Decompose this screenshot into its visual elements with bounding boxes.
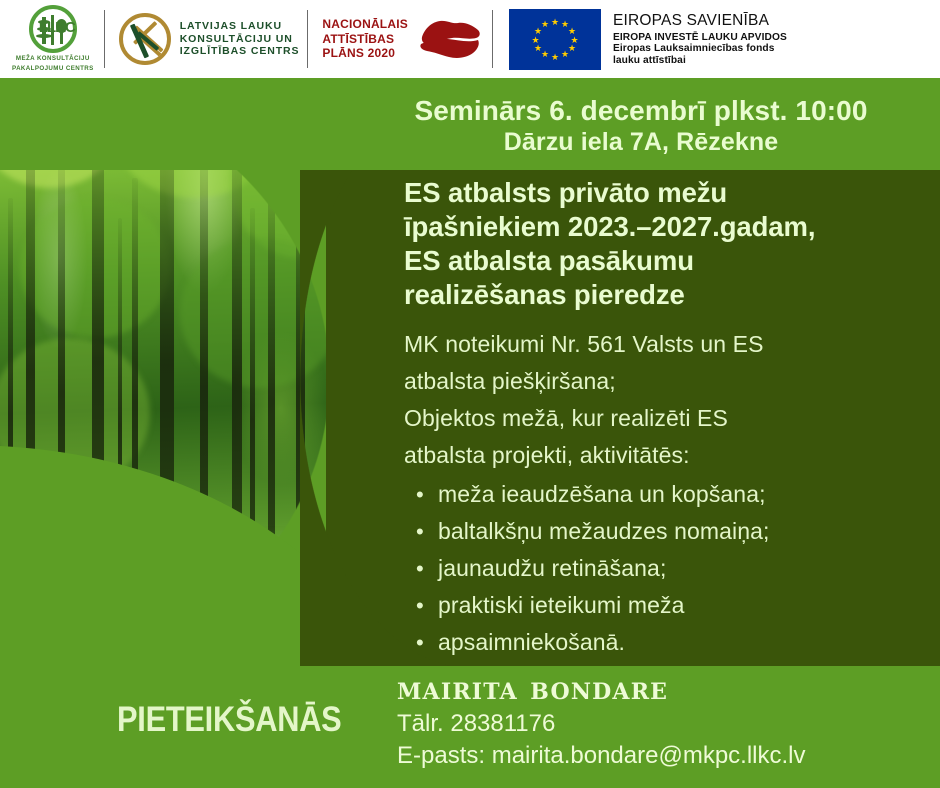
main-content: ES atbalsts privāto mežu īpašniekiem 202… — [404, 176, 940, 661]
contact-person-name: Mairita Bondare — [397, 668, 940, 708]
llkc-circle-icon — [119, 13, 171, 65]
seminar-address: Dārzu iela 7A, Rēzekne — [504, 127, 779, 158]
eu-line2: EIROPA INVESTĒ LAUKU APVIDOS — [613, 32, 787, 43]
seminar-datetime: Seminārs 6. decembrī plkst. 10:00 — [414, 94, 867, 127]
llkc-line2: KONSULTĀCIJU UN — [180, 33, 300, 46]
eu-logo-text: EIROPAS SAVIENĪBA EIROPA INVESTĒ LAUKU A… — [613, 12, 787, 67]
nap-logo-text: NACIONĀLAIS ATTĪSTĪBAS PLĀNS 2020 — [322, 17, 408, 61]
mkpc-logo-letters: LLKC — [39, 19, 75, 36]
list-item: meža ieaudzēšana un kopšana; — [438, 476, 940, 513]
title-line2: īpašniekiem 2023.–2027.gadam, — [404, 210, 940, 244]
nap-line3: PLĀNS 2020 — [322, 46, 408, 61]
seminar-title: ES atbalsts privāto mežu īpašniekiem 202… — [404, 176, 940, 312]
eu-flag-icon: ★ ★ ★ ★ ★ ★ ★ ★ ★ ★ ★ ★ — [509, 9, 601, 70]
llkc-logo-text: LATVIJAS LAUKU KONSULTĀCIJU UN IZGLĪTĪBA… — [180, 20, 300, 58]
nap-line1: NACIONĀLAIS — [322, 17, 408, 32]
poster-root: LLKC MEŽA KONSULTĀCIJU PAKALPOJUMU CENTR… — [0, 0, 940, 788]
list-item: jaunaudžu retināšana; — [438, 550, 940, 587]
list-item: praktiski ieteikumi meža — [438, 587, 940, 624]
seminar-banner-text: Seminārs 6. decembrī plkst. 10:00 Dārzu … — [342, 78, 940, 170]
llkc-logo: LATVIJAS LAUKU KONSULTĀCIJU UN IZGLĪTĪBA… — [105, 0, 308, 78]
eu-line3: Eiropas Lauksaimniecības fonds — [613, 43, 787, 54]
logo-header-strip: LLKC MEŽA KONSULTĀCIJU PAKALPOJUMU CENTR… — [0, 0, 940, 78]
description-line1: MK noteikumi Nr. 561 Valsts un ES — [404, 326, 940, 363]
apply-label: PIETEIKŠANĀS — [117, 700, 341, 740]
mkpc-circle-icon: LLKC — [29, 5, 77, 53]
activity-list: meža ieaudzēšana un kopšana; baltalkšņu … — [404, 476, 940, 661]
eu-line4: lauku attīstībai — [613, 55, 787, 66]
mkpc-caption-line1: MEŽA KONSULTĀCIJU — [16, 55, 90, 63]
llkc-line1: LATVIJAS LAUKU — [180, 20, 300, 33]
description-line2: atbalsta piešķiršana; — [404, 363, 940, 400]
nap-line2: ATTĪSTĪBAS — [322, 32, 408, 47]
title-line4: realizēšanas pieredze — [404, 278, 940, 312]
list-item: baltalkšņu mežaudzes nomaiņa; — [438, 513, 940, 550]
mkpc-caption-line2: PAKALPOJUMU CENTRS — [12, 65, 94, 73]
description-line4: atbalsta projekti, aktivitātēs: — [404, 437, 940, 474]
contact-block: Mairita Bondare Tālr. 28381176 E-pasts: … — [397, 668, 940, 772]
contact-email: E-pasts: mairita.bondare@mkpc.llkc.lv — [397, 740, 940, 772]
eu-logo: ★ ★ ★ ★ ★ ★ ★ ★ ★ ★ ★ ★ EIROPAS SAVIENĪB… — [493, 0, 795, 78]
nap-logo: NACIONĀLAIS ATTĪSTĪBAS PLĀNS 2020 — [308, 0, 492, 78]
mkpc-logo: LLKC MEŽA KONSULTĀCIJU PAKALPOJUMU CENTR… — [0, 0, 104, 78]
title-line3: ES atbalsta pasākumu — [404, 244, 940, 278]
description-line3: Objektos mežā, kur realizēti ES — [404, 400, 940, 437]
seminar-description: MK noteikumi Nr. 561 Valsts un ES atbals… — [404, 326, 940, 474]
title-line1: ES atbalsts privāto mežu — [404, 176, 940, 210]
eu-line1: EIROPAS SAVIENĪBA — [613, 12, 787, 29]
latvia-map-icon — [416, 13, 484, 65]
list-item-continuation: apsaimniekošanā. — [438, 624, 940, 661]
llkc-line3: IZGLĪTĪBAS CENTRS — [180, 45, 300, 58]
contact-phone: Tālr. 28381176 — [397, 708, 940, 740]
